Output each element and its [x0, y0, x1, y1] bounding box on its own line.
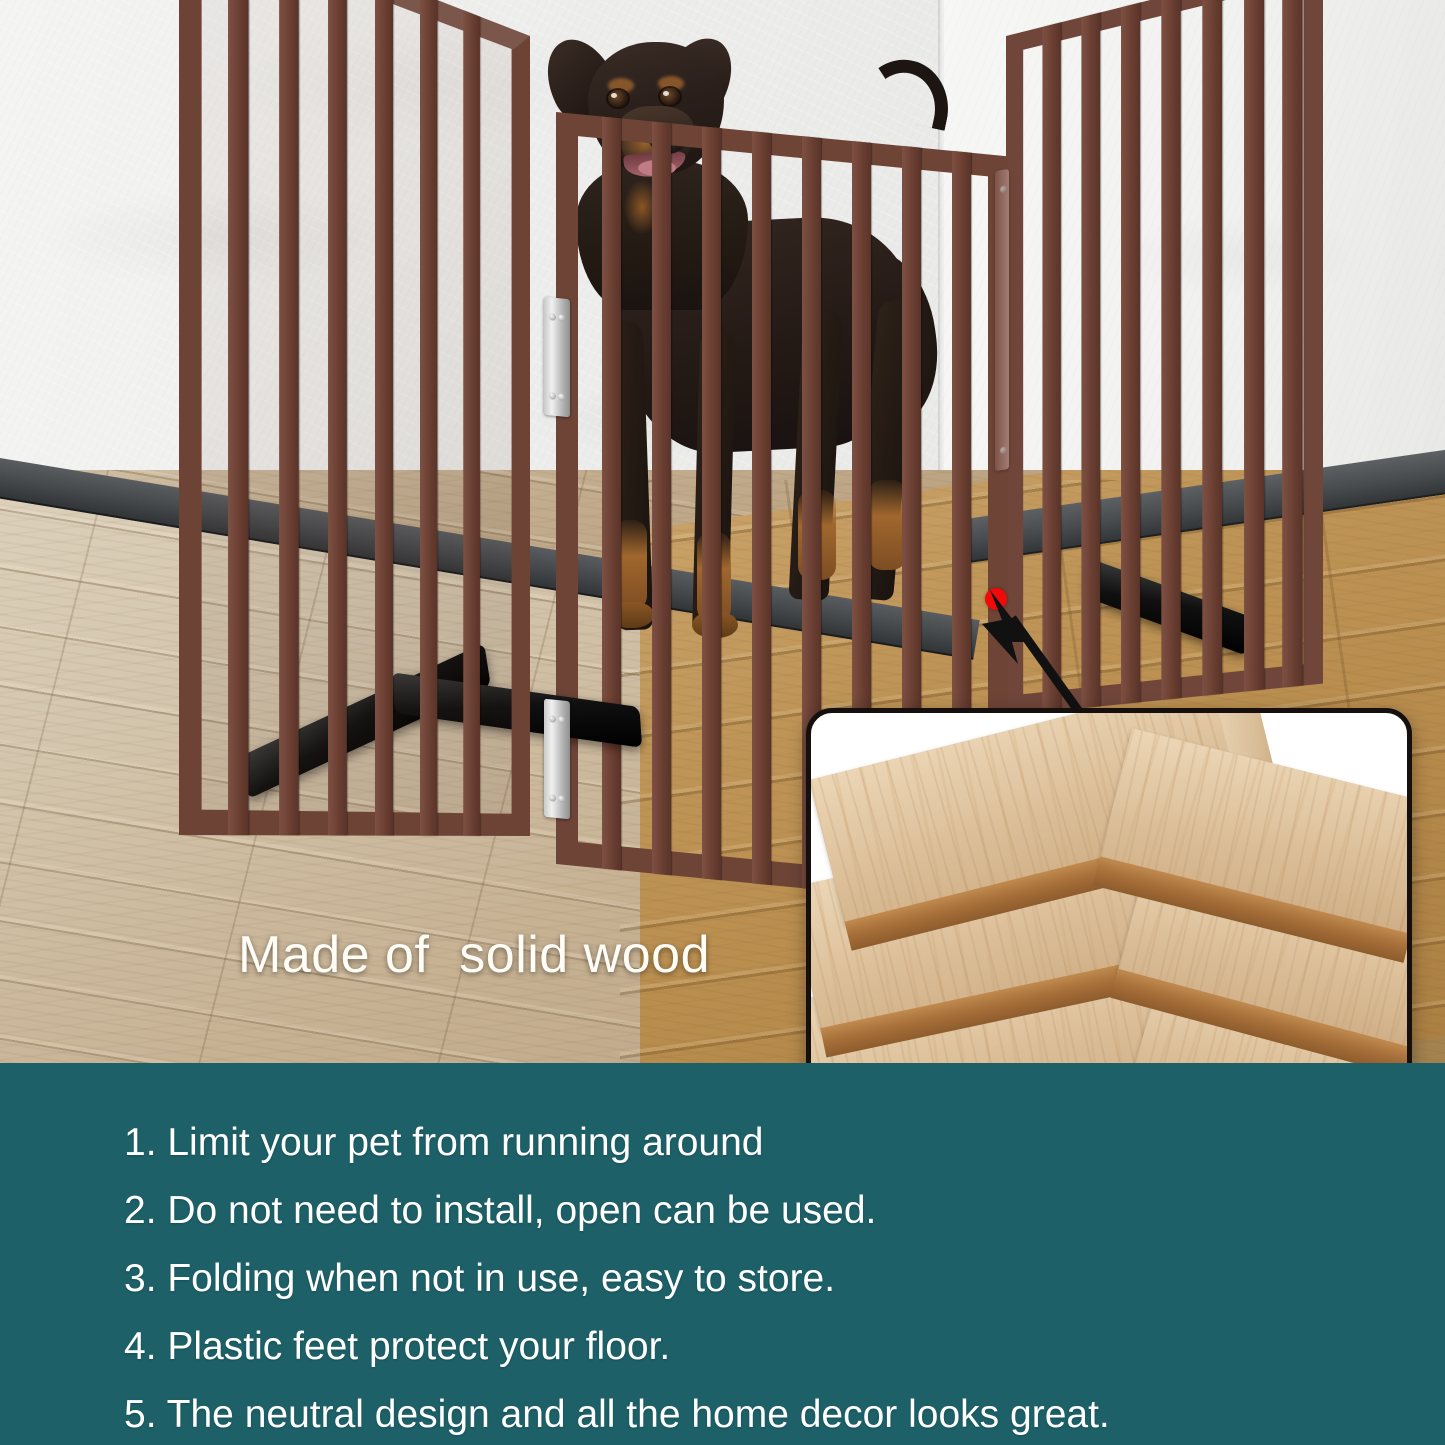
gate-slat — [702, 126, 721, 880]
room-scene-photo: Made of solid wood — [0, 0, 1445, 1075]
hinge-screw — [558, 314, 565, 322]
gate-slat — [752, 131, 771, 885]
feature-item-5: 5. The neutral design and all the home d… — [124, 1395, 1110, 1434]
feature-item-2: 2. Do not need to install, open can be u… — [124, 1191, 876, 1230]
gate-slat — [375, 0, 393, 836]
solid-wood-caption: Made of solid wood — [238, 925, 710, 985]
gate-slat — [602, 117, 621, 871]
gate-hinge-right-seam — [995, 169, 1009, 471]
gate-slat — [228, 0, 248, 835]
feature-item-4: 4. Plastic feet protect your floor. — [124, 1327, 670, 1366]
gate-panel-left — [179, 0, 530, 836]
solid-wood-boards-inset — [806, 708, 1412, 1075]
feature-item-3: 3. Folding when not in use, easy to stor… — [124, 1259, 835, 1298]
gate-slat — [652, 121, 671, 875]
gate-hinge-lower — [544, 699, 570, 820]
hinge-screw — [558, 795, 565, 803]
gate-slat — [420, 0, 437, 836]
hinge-screw — [558, 716, 565, 724]
gate-slat — [1202, 0, 1222, 696]
gate-slat — [1244, 0, 1264, 692]
gate-slat — [1161, 0, 1180, 700]
gate-slat — [328, 0, 347, 836]
feature-list-panel: 1. Limit your pet from running around 2.… — [0, 1063, 1445, 1445]
gate-slat — [463, 10, 480, 836]
hinge-screw — [558, 393, 565, 401]
gate-hinge-upper — [544, 297, 570, 418]
product-marketing-image: Made of solid wood — [0, 0, 1445, 1445]
feature-item-1: 1. Limit your pet from running around — [124, 1123, 764, 1162]
gate-slat — [279, 0, 299, 835]
gate-slat — [1282, 0, 1302, 688]
